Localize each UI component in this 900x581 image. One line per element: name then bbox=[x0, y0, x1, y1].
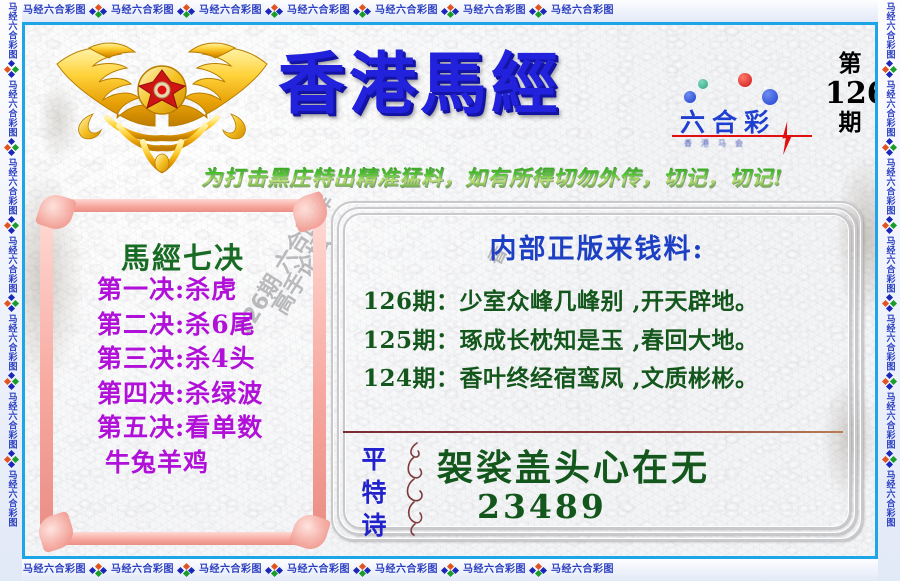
golden-phoenix-emblem bbox=[47, 30, 277, 175]
list-item: 第四决:杀绿波 bbox=[97, 377, 329, 412]
info-line: 125期：琢成长枕知是玉 ,春回大地。 bbox=[363, 322, 863, 361]
border-label: 马经六合彩图 bbox=[551, 559, 614, 581]
lottery-logo: 六合彩 香港马会 bbox=[670, 73, 820, 155]
border-label: 马经六合彩图 bbox=[6, 392, 17, 449]
border-label: 马经六合彩图 bbox=[884, 2, 895, 59]
border-strip-left: 马经六合彩图 马经六合彩图 马经六合彩图 马经六合彩图 马经六合彩图 马经六合彩… bbox=[0, 0, 22, 581]
border-label: 马经六合彩图 bbox=[463, 559, 526, 581]
diamond-cluster-icon bbox=[5, 61, 18, 78]
border-label: 马经六合彩图 bbox=[6, 236, 17, 293]
diamond-cluster-icon bbox=[354, 564, 371, 577]
diamond-cluster-icon bbox=[883, 451, 896, 468]
border-label: 马经六合彩图 bbox=[6, 314, 17, 371]
diamond-cluster-icon bbox=[178, 564, 195, 577]
diamond-cluster-icon bbox=[90, 5, 107, 18]
diamond-cluster-icon bbox=[442, 564, 459, 577]
page-title: 香港馬經 bbox=[278, 50, 562, 117]
list-item: 第三决:杀4头 bbox=[97, 342, 329, 377]
diamond-cluster-icon bbox=[90, 564, 107, 577]
border-label: 马经六合彩图 bbox=[884, 392, 895, 449]
border-label: 马经六合彩图 bbox=[287, 559, 350, 581]
diamond-cluster-icon bbox=[883, 295, 896, 312]
issue-number: 第 126 期 bbox=[825, 51, 875, 136]
info-line: 124期：香叶终经宿鸾凤 ,文质彬彬。 bbox=[363, 360, 863, 399]
diamond-cluster-icon bbox=[530, 564, 547, 577]
list-item: 第二决:杀6尾 bbox=[97, 308, 329, 343]
diamond-cluster-icon bbox=[442, 5, 459, 18]
border-strip-right: 马经六合彩图 马经六合彩图 马经六合彩图 马经六合彩图 马经六合彩图 马经六合彩… bbox=[878, 0, 900, 581]
diamond-cluster-icon bbox=[354, 5, 371, 18]
poem-label: 平特诗 bbox=[357, 443, 391, 542]
border-strip-top: 马经六合彩图 马经六合彩图 马经六合彩图 马经六合彩图 马经六合彩图 马经六合彩… bbox=[0, 0, 900, 22]
list-item: 第一决:杀虎 bbox=[97, 273, 329, 308]
lightning-bolt-icon bbox=[780, 121, 792, 155]
diamond-cluster-icon bbox=[266, 564, 283, 577]
border-label: 马经六合彩图 bbox=[551, 0, 614, 22]
diamond-cluster-icon bbox=[883, 61, 896, 78]
issue-prefix: 第 bbox=[825, 51, 875, 77]
vine-ornament-icon bbox=[401, 439, 429, 537]
lottery-logo-subtext: 香港马会 bbox=[684, 138, 752, 149]
list-item: 牛兔羊鸡 bbox=[97, 446, 329, 481]
border-label: 马经六合彩图 bbox=[23, 0, 86, 22]
diamond-cluster-icon bbox=[5, 139, 18, 156]
page-subtitle: 为打击黑庄特出精准猛料，如有所得切勿外传，切记，切记! bbox=[201, 162, 783, 192]
poster-header: 香港馬經 六合彩 香港马会 第 126 期 bbox=[25, 25, 875, 177]
border-label: 马经六合彩图 bbox=[6, 80, 17, 137]
border-label: 马经六合彩图 bbox=[6, 470, 17, 527]
diamond-cluster-icon bbox=[5, 451, 18, 468]
border-label: 马经六合彩图 bbox=[6, 2, 17, 59]
border-strip-bottom: 马经六合彩图 马经六合彩图 马经六合彩图 马经六合彩图 马经六合彩图 马经六合彩… bbox=[0, 559, 900, 581]
poster-board: 126期 六合图库 高手论坛 香 bbox=[22, 22, 878, 559]
right-panel-heading: 内部正版来钱料: bbox=[325, 227, 869, 266]
border-label: 马经六合彩图 bbox=[375, 0, 438, 22]
right-panel-lines: 126期：少室众峰几峰别 ,开天辟地。 125期：琢成长枕知是玉 ,春回大地。 … bbox=[363, 283, 863, 399]
left-tips-panel: 馬經七决 第一决:杀虎 第二决:杀6尾 第三决:杀4头 第四决:杀绿波 第五决:… bbox=[37, 197, 329, 547]
divider bbox=[343, 431, 843, 433]
border-label: 马经六合彩图 bbox=[884, 314, 895, 371]
left-panel-heading: 馬經七决 bbox=[37, 235, 329, 277]
issue-value: 126 bbox=[825, 77, 875, 111]
poem-text: 袈裟盖头心在无 bbox=[437, 439, 710, 491]
issue-suffix: 期 bbox=[825, 110, 875, 136]
border-label: 马经六合彩图 bbox=[463, 0, 526, 22]
diamond-cluster-icon bbox=[883, 217, 896, 234]
list-item: 第五决:看单数 bbox=[97, 411, 329, 446]
poster-page: 马经六合彩图 马经六合彩图 马经六合彩图 马经六合彩图 马经六合彩图 马经六合彩… bbox=[0, 0, 900, 581]
diamond-cluster-icon bbox=[530, 5, 547, 18]
lottery-logo-text: 六合彩 bbox=[680, 103, 776, 139]
border-label: 马经六合彩图 bbox=[884, 470, 895, 527]
border-label: 马经六合彩图 bbox=[199, 0, 262, 22]
border-label: 马经六合彩图 bbox=[111, 559, 174, 581]
poem-numbers: 23489 bbox=[477, 487, 607, 526]
diamond-cluster-icon bbox=[178, 5, 195, 18]
diamond-cluster-icon bbox=[266, 5, 283, 18]
diamond-cluster-icon bbox=[883, 139, 896, 156]
border-label: 马经六合彩图 bbox=[6, 158, 17, 215]
border-label: 马经六合彩图 bbox=[199, 559, 262, 581]
border-label: 马经六合彩图 bbox=[23, 559, 86, 581]
diamond-cluster-icon bbox=[883, 373, 896, 390]
diamond-cluster-icon bbox=[5, 295, 18, 312]
border-label: 马经六合彩图 bbox=[884, 236, 895, 293]
info-line: 126期：少室众峰几峰别 ,开天辟地。 bbox=[363, 283, 863, 322]
border-label: 马经六合彩图 bbox=[884, 158, 895, 215]
diamond-cluster-icon bbox=[5, 373, 18, 390]
diamond-cluster-icon bbox=[5, 217, 18, 234]
border-label: 马经六合彩图 bbox=[111, 0, 174, 22]
left-tips-list: 第一决:杀虎 第二决:杀6尾 第三决:杀4头 第四决:杀绿波 第五决:看单数 牛… bbox=[97, 273, 329, 480]
poem-section: 平特诗 袈裟盖头心在无 23489 bbox=[325, 425, 869, 547]
border-label: 马经六合彩图 bbox=[375, 559, 438, 581]
border-label: 马经六合彩图 bbox=[884, 80, 895, 137]
border-label: 马经六合彩图 bbox=[287, 0, 350, 22]
